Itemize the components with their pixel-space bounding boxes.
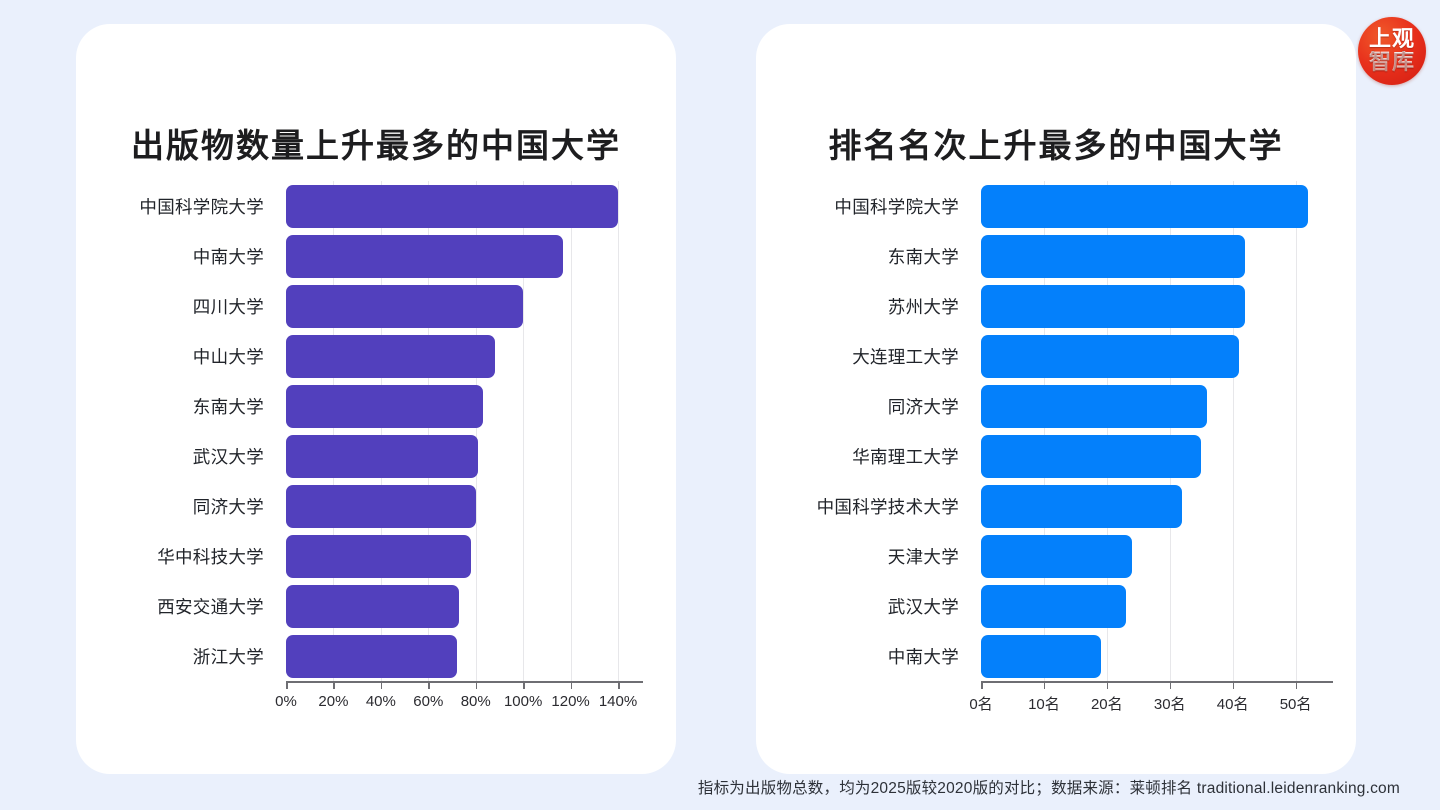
bar-track	[286, 235, 637, 278]
category-label-row: 西安交通大学	[106, 581, 276, 631]
category-label-row: 中国科学技术大学	[776, 481, 971, 531]
axis-tick-label: 10名	[1028, 693, 1060, 714]
axis-line	[286, 681, 643, 683]
bar-track	[981, 435, 1327, 478]
bar-track	[286, 335, 637, 378]
value-axis-publications: 0%20%40%60%80%100%120%140%	[286, 681, 637, 739]
axis-tick	[981, 681, 983, 689]
category-label: 华南理工大学	[776, 444, 971, 469]
category-label: 西安交通大学	[106, 594, 276, 619]
category-label: 天津大学	[776, 544, 971, 569]
logo-bottom-text: 智库	[1369, 51, 1415, 74]
bar-track	[981, 235, 1327, 278]
category-label: 中南大学	[106, 244, 276, 269]
chart-plot-publications: 中国科学院大学中南大学四川大学中山大学东南大学武汉大学同济大学华中科技大学西安交…	[106, 181, 646, 741]
bar-ranking[interactable]	[981, 285, 1245, 328]
category-label-row: 华南理工大学	[776, 431, 971, 481]
category-label-row: 东南大学	[776, 231, 971, 281]
category-label-row: 四川大学	[106, 281, 276, 331]
category-label: 中国科学院大学	[106, 194, 276, 219]
chart-title-ranking: 排名名次上升最多的中国大学	[756, 119, 1356, 167]
axis-tick-label: 30名	[1154, 693, 1186, 714]
category-label: 东南大学	[106, 394, 276, 419]
bar-row	[981, 281, 1327, 331]
bar-publications[interactable]	[286, 535, 471, 578]
axis-tick	[523, 681, 525, 689]
bar-row	[981, 581, 1327, 631]
axis-tick	[286, 681, 288, 689]
bar-publications[interactable]	[286, 585, 459, 628]
axis-tick	[1044, 681, 1046, 689]
category-label: 武汉大学	[776, 594, 971, 619]
bar-row	[981, 531, 1327, 581]
axis-line	[981, 681, 1333, 683]
axis-tick	[618, 681, 620, 689]
axis-tick	[571, 681, 573, 689]
category-label: 四川大学	[106, 294, 276, 319]
bar-track	[286, 585, 637, 628]
category-label: 东南大学	[776, 244, 971, 269]
bar-row	[286, 481, 637, 531]
category-label-row: 天津大学	[776, 531, 971, 581]
axis-tick	[1107, 681, 1109, 689]
axis-tick	[1233, 681, 1235, 689]
chart-card-publications: 出版物数量上升最多的中国大学 中国科学院大学中南大学四川大学中山大学东南大学武汉…	[76, 24, 676, 774]
bar-track	[981, 485, 1327, 528]
axis-tick	[428, 681, 430, 689]
bar-row	[286, 531, 637, 581]
bar-track	[286, 285, 637, 328]
axis-tick-label: 0%	[275, 693, 297, 710]
category-label: 大连理工大学	[776, 344, 971, 369]
category-label-row: 华中科技大学	[106, 531, 276, 581]
chart-card-ranking: 排名名次上升最多的中国大学 中国科学院大学东南大学苏州大学大连理工大学同济大学华…	[756, 24, 1356, 774]
bar-publications[interactable]	[286, 435, 478, 478]
bar-publications[interactable]	[286, 385, 483, 428]
bar-row	[286, 431, 637, 481]
category-label-row: 武汉大学	[106, 431, 276, 481]
bar-publications[interactable]	[286, 285, 523, 328]
category-label: 中国科学技术大学	[776, 494, 971, 519]
bar-ranking[interactable]	[981, 635, 1101, 678]
bar-publications[interactable]	[286, 185, 618, 228]
bar-track	[981, 585, 1327, 628]
bar-ranking[interactable]	[981, 185, 1308, 228]
category-label-row: 浙江大学	[106, 631, 276, 681]
bar-ranking[interactable]	[981, 535, 1132, 578]
bar-row	[286, 281, 637, 331]
bar-row	[286, 581, 637, 631]
bar-row	[981, 481, 1327, 531]
category-label-row: 中国科学院大学	[106, 181, 276, 231]
category-label: 同济大学	[106, 494, 276, 519]
bar-row	[286, 631, 637, 681]
bar-track	[981, 285, 1327, 328]
category-axis-ranking: 中国科学院大学东南大学苏州大学大连理工大学同济大学华南理工大学中国科学技术大学天…	[776, 181, 971, 681]
category-label-row: 中南大学	[106, 231, 276, 281]
bar-row	[981, 231, 1327, 281]
category-label-row: 中山大学	[106, 331, 276, 381]
axis-tick-label: 60%	[413, 693, 443, 710]
bar-row	[981, 431, 1327, 481]
bar-row	[286, 381, 637, 431]
category-label: 同济大学	[776, 394, 971, 419]
category-label-row: 苏州大学	[776, 281, 971, 331]
value-axis-ranking: 0名10名20名30名40名50名	[981, 681, 1327, 739]
category-label: 华中科技大学	[106, 544, 276, 569]
bar-ranking[interactable]	[981, 335, 1239, 378]
axis-tick-label: 80%	[461, 693, 491, 710]
category-label: 中南大学	[776, 644, 971, 669]
category-axis-publications: 中国科学院大学中南大学四川大学中山大学东南大学武汉大学同济大学华中科技大学西安交…	[106, 181, 276, 681]
axis-tick-label: 100%	[504, 693, 542, 710]
chart-title-publications: 出版物数量上升最多的中国大学	[76, 119, 676, 167]
bar-ranking[interactable]	[981, 385, 1207, 428]
axis-tick	[381, 681, 383, 689]
category-label: 武汉大学	[106, 444, 276, 469]
category-label-row: 中南大学	[776, 631, 971, 681]
bar-row	[981, 381, 1327, 431]
category-label-row: 武汉大学	[776, 581, 971, 631]
logo-top-text: 上观	[1369, 28, 1415, 51]
bar-publications[interactable]	[286, 335, 495, 378]
axis-tick-label: 20%	[318, 693, 348, 710]
bar-ranking[interactable]	[981, 435, 1201, 478]
bar-ranking[interactable]	[981, 485, 1182, 528]
axis-tick	[1296, 681, 1298, 689]
bar-row	[981, 631, 1327, 681]
axis-tick-label: 120%	[551, 693, 589, 710]
bar-row	[286, 331, 637, 381]
category-label: 中山大学	[106, 344, 276, 369]
brand-logo: 上观 智库	[1358, 17, 1426, 85]
footer-source-note: 指标为出版物总数，均为2025版较2020版的对比；数据来源：莱顿排名 trad…	[0, 776, 1400, 798]
bar-publications[interactable]	[286, 235, 563, 278]
bar-row	[286, 231, 637, 281]
bar-row	[981, 181, 1327, 231]
bar-track	[981, 185, 1327, 228]
category-label: 中国科学院大学	[776, 194, 971, 219]
bar-row	[981, 331, 1327, 381]
bar-track	[981, 635, 1327, 678]
axis-tick-label: 40%	[366, 693, 396, 710]
bar-track	[286, 435, 637, 478]
bar-publications[interactable]	[286, 635, 457, 678]
bar-track	[286, 385, 637, 428]
axis-tick	[476, 681, 478, 689]
axis-tick-label: 20名	[1091, 693, 1123, 714]
category-label-row: 大连理工大学	[776, 331, 971, 381]
bar-ranking[interactable]	[981, 235, 1245, 278]
axis-tick-label: 50名	[1280, 693, 1312, 714]
chart-plot-ranking: 中国科学院大学东南大学苏州大学大连理工大学同济大学华南理工大学中国科学技术大学天…	[776, 181, 1336, 741]
bar-track	[981, 535, 1327, 578]
bar-track	[981, 385, 1327, 428]
axis-tick-label: 40名	[1217, 693, 1249, 714]
category-label-row: 同济大学	[776, 381, 971, 431]
category-label-row: 同济大学	[106, 481, 276, 531]
bar-row	[286, 181, 637, 231]
bar-publications[interactable]	[286, 485, 476, 528]
bar-track	[286, 185, 637, 228]
bars-area-publications: 0%20%40%60%80%100%120%140%	[286, 181, 637, 681]
category-label-row: 东南大学	[106, 381, 276, 431]
bar-track	[286, 485, 637, 528]
axis-tick	[1170, 681, 1172, 689]
axis-tick-label: 0名	[969, 693, 992, 714]
bar-ranking[interactable]	[981, 585, 1126, 628]
bar-track	[286, 635, 637, 678]
axis-tick	[333, 681, 335, 689]
category-label-row: 中国科学院大学	[776, 181, 971, 231]
category-label: 浙江大学	[106, 644, 276, 669]
category-label: 苏州大学	[776, 294, 971, 319]
bars-area-ranking: 0名10名20名30名40名50名	[981, 181, 1327, 681]
bar-track	[981, 335, 1327, 378]
bar-track	[286, 535, 637, 578]
axis-tick-label: 140%	[599, 693, 637, 710]
